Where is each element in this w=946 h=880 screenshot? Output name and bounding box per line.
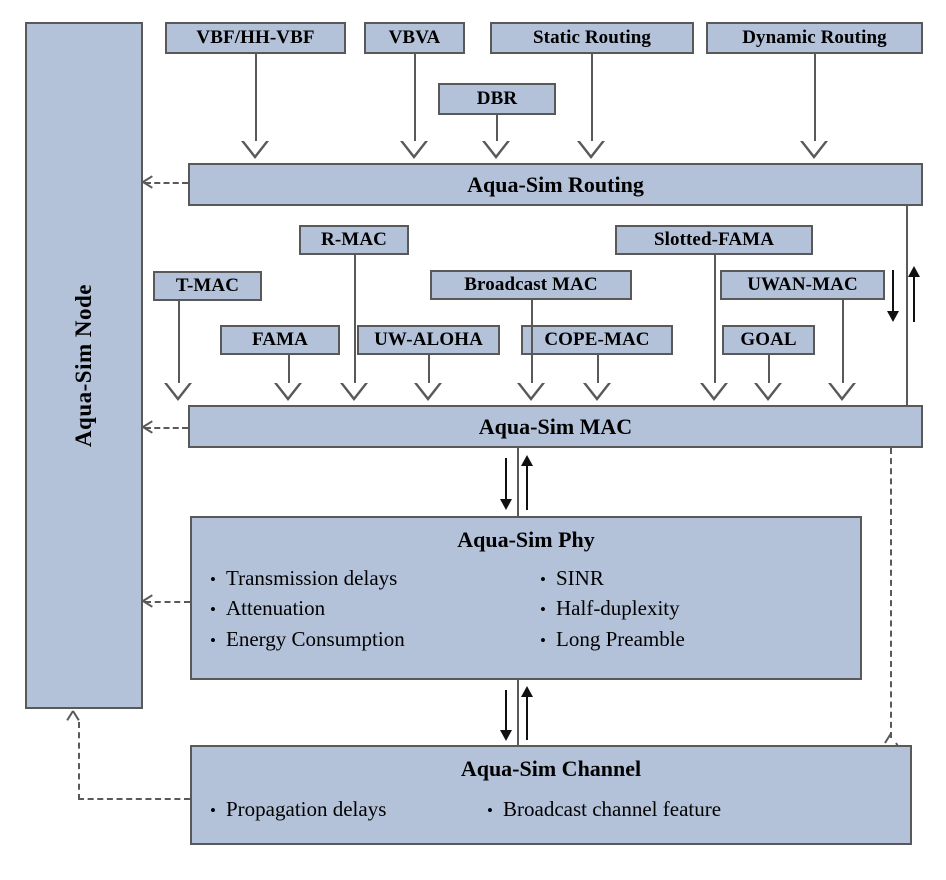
protocol-box-cope-mac[interactable]: COPE-MAC bbox=[521, 325, 673, 355]
bullet-icon: • bbox=[210, 629, 226, 654]
connector-dbr-routing bbox=[496, 115, 498, 141]
arrowhead-phy-node bbox=[143, 595, 155, 607]
bidir-up-shaft-mac-phy bbox=[526, 466, 528, 510]
layer-label: Aqua-Sim Channel bbox=[192, 756, 910, 782]
connector-vbf-routing bbox=[255, 54, 257, 141]
protocol-box-t-mac[interactable]: T-MAC bbox=[153, 271, 262, 301]
connector-fama bbox=[288, 355, 290, 383]
channel-features-right: • Broadcast channel feature bbox=[487, 794, 867, 824]
protocol-box-fama[interactable]: FAMA bbox=[220, 325, 340, 355]
arrowhead-vbva-routing bbox=[400, 141, 428, 159]
protocol-label: Dynamic Routing bbox=[742, 28, 887, 48]
protocol-label: Static Routing bbox=[533, 28, 651, 48]
connector-t-mac bbox=[178, 301, 180, 383]
protocol-label: GOAL bbox=[740, 330, 796, 350]
dashed-rail-mac-to-channel bbox=[890, 448, 892, 738]
bullet-icon: • bbox=[210, 598, 226, 623]
connector-r-mac bbox=[354, 255, 356, 383]
phy-features-right: • SINR • Half-duplexity • Long Preamble bbox=[540, 563, 820, 654]
feature-item: • Broadcast channel feature bbox=[487, 794, 867, 824]
bidir-down-shaft-phy-channel bbox=[505, 690, 507, 733]
protocol-box-uw-aloha[interactable]: UW-ALOHA bbox=[357, 325, 500, 355]
dashed-link-channel-node-horizontal bbox=[78, 798, 190, 800]
bidir-up-shaft-phy-channel bbox=[526, 697, 528, 740]
protocol-label: T-MAC bbox=[176, 276, 239, 296]
bidir-down-head-mac-phy bbox=[500, 499, 512, 510]
connector-uw-aloha bbox=[428, 355, 430, 383]
bidir-down-head-phy-channel bbox=[500, 730, 512, 741]
layer-label: Aqua-Sim Routing bbox=[467, 173, 644, 196]
protocol-box-vbva[interactable]: VBVA bbox=[364, 22, 465, 54]
arrowhead-routing-node bbox=[143, 176, 155, 188]
feature-label: Broadcast channel feature bbox=[503, 794, 721, 824]
arrowhead-cope-mac bbox=[583, 383, 611, 401]
protocol-label: DBR bbox=[477, 89, 517, 109]
feature-item: • Propagation delays bbox=[210, 794, 487, 824]
connector-broadcast-mac bbox=[531, 300, 533, 383]
protocol-label: UW-ALOHA bbox=[374, 330, 483, 350]
bidir-up-head-mac-phy bbox=[521, 455, 533, 466]
protocol-label: R-MAC bbox=[321, 230, 387, 250]
arrowhead-uw-aloha bbox=[414, 383, 442, 401]
rail-phy-to-channel bbox=[517, 680, 519, 745]
arrowhead-channel-node bbox=[72, 710, 86, 722]
arrowhead-broadcast-mac bbox=[517, 383, 545, 401]
bullet-icon: • bbox=[540, 629, 556, 654]
layer-aqua-sim-routing[interactable]: Aqua-Sim Routing bbox=[188, 163, 923, 206]
bidir-down-shaft-routing-mac bbox=[892, 270, 894, 314]
layer-aqua-sim-channel[interactable]: Aqua-Sim Channel • Propagation delays • … bbox=[190, 745, 912, 845]
protocol-label: COPE-MAC bbox=[544, 330, 649, 350]
feature-item: • Half-duplexity bbox=[540, 593, 820, 623]
protocol-box-slotted-fama[interactable]: Slotted-FAMA bbox=[615, 225, 813, 255]
connector-slotted-fama bbox=[714, 255, 716, 383]
rail-routing-to-mac bbox=[906, 206, 908, 405]
protocol-box-static-routing[interactable]: Static Routing bbox=[490, 22, 694, 54]
connector-vbva-routing bbox=[414, 54, 416, 141]
protocol-label: VBF/HH-VBF bbox=[196, 28, 314, 48]
protocol-box-broadcast-mac[interactable]: Broadcast MAC bbox=[430, 270, 632, 300]
connector-cope-mac bbox=[597, 355, 599, 383]
connector-uwan-mac bbox=[842, 300, 844, 383]
architecture-diagram: Aqua-Sim Node VBF/HH-VBF VBVA DBR Static… bbox=[0, 0, 946, 880]
bidir-up-head-phy-channel bbox=[521, 686, 533, 697]
connector-goal bbox=[768, 355, 770, 383]
bullet-icon: • bbox=[210, 799, 226, 824]
layer-label: Aqua-Sim Phy bbox=[192, 527, 860, 553]
bidir-up-shaft-routing-mac bbox=[913, 277, 915, 322]
feature-label: Transmission delays bbox=[226, 563, 397, 593]
bidir-down-head-routing-mac bbox=[887, 311, 899, 322]
arrowhead-t-mac bbox=[164, 383, 192, 401]
arrowhead-vbf-routing bbox=[241, 141, 269, 159]
rail-mac-to-phy bbox=[517, 448, 519, 516]
aqua-sim-node-container: Aqua-Sim Node bbox=[25, 22, 143, 709]
arrowhead-mac-node bbox=[143, 421, 155, 433]
arrowhead-static-routing bbox=[577, 141, 605, 159]
protocol-label: VBVA bbox=[389, 28, 441, 48]
arrowhead-dbr-routing bbox=[482, 141, 510, 159]
connector-dynamic-routing bbox=[814, 54, 816, 141]
bidir-up-head-routing-mac bbox=[908, 266, 920, 277]
feature-label: Propagation delays bbox=[226, 794, 386, 824]
arrowhead-mac-channel bbox=[883, 733, 899, 745]
connector-static-routing bbox=[591, 54, 593, 141]
arrowhead-dynamic-routing bbox=[800, 141, 828, 159]
protocol-label: Slotted-FAMA bbox=[654, 230, 774, 250]
feature-item: • SINR bbox=[540, 563, 820, 593]
protocol-box-dynamic-routing[interactable]: Dynamic Routing bbox=[706, 22, 923, 54]
protocol-box-goal[interactable]: GOAL bbox=[722, 325, 815, 355]
protocol-label: UWAN-MAC bbox=[747, 275, 858, 295]
layer-label: Aqua-Sim MAC bbox=[479, 415, 632, 438]
feature-label: Attenuation bbox=[226, 593, 325, 623]
bidir-down-shaft-mac-phy bbox=[505, 458, 507, 502]
arrowhead-r-mac bbox=[340, 383, 368, 401]
feature-label: Energy Consumption bbox=[226, 624, 405, 654]
feature-item: • Transmission delays bbox=[210, 563, 540, 593]
feature-item: • Attenuation bbox=[210, 593, 540, 623]
arrowhead-goal bbox=[754, 383, 782, 401]
protocol-label: FAMA bbox=[252, 330, 308, 350]
protocol-label: Broadcast MAC bbox=[464, 275, 597, 295]
dashed-link-channel-node-vertical bbox=[78, 722, 80, 800]
layer-aqua-sim-phy[interactable]: Aqua-Sim Phy • Transmission delays • Att… bbox=[190, 516, 862, 680]
protocol-box-uwan-mac[interactable]: UWAN-MAC bbox=[720, 270, 885, 300]
layer-aqua-sim-mac[interactable]: Aqua-Sim MAC bbox=[188, 405, 923, 448]
feature-label: SINR bbox=[556, 563, 604, 593]
bullet-icon: • bbox=[540, 568, 556, 593]
feature-label: Long Preamble bbox=[556, 624, 685, 654]
aqua-sim-node-label: Aqua-Sim Node bbox=[72, 284, 96, 447]
protocol-box-vbf-hh-vbf[interactable]: VBF/HH-VBF bbox=[165, 22, 346, 54]
protocol-box-r-mac[interactable]: R-MAC bbox=[299, 225, 409, 255]
arrowhead-fama bbox=[274, 383, 302, 401]
phy-features-left: • Transmission delays • Attenuation • En… bbox=[210, 563, 540, 654]
bullet-icon: • bbox=[540, 598, 556, 623]
arrowhead-uwan-mac bbox=[828, 383, 856, 401]
feature-item: • Energy Consumption bbox=[210, 624, 540, 654]
arrowhead-slotted-fama bbox=[700, 383, 728, 401]
feature-label: Half-duplexity bbox=[556, 593, 680, 623]
feature-item: • Long Preamble bbox=[540, 624, 820, 654]
bullet-icon: • bbox=[487, 799, 503, 824]
channel-features-left: • Propagation delays bbox=[210, 794, 487, 824]
bullet-icon: • bbox=[210, 568, 226, 593]
protocol-box-dbr[interactable]: DBR bbox=[438, 83, 556, 115]
